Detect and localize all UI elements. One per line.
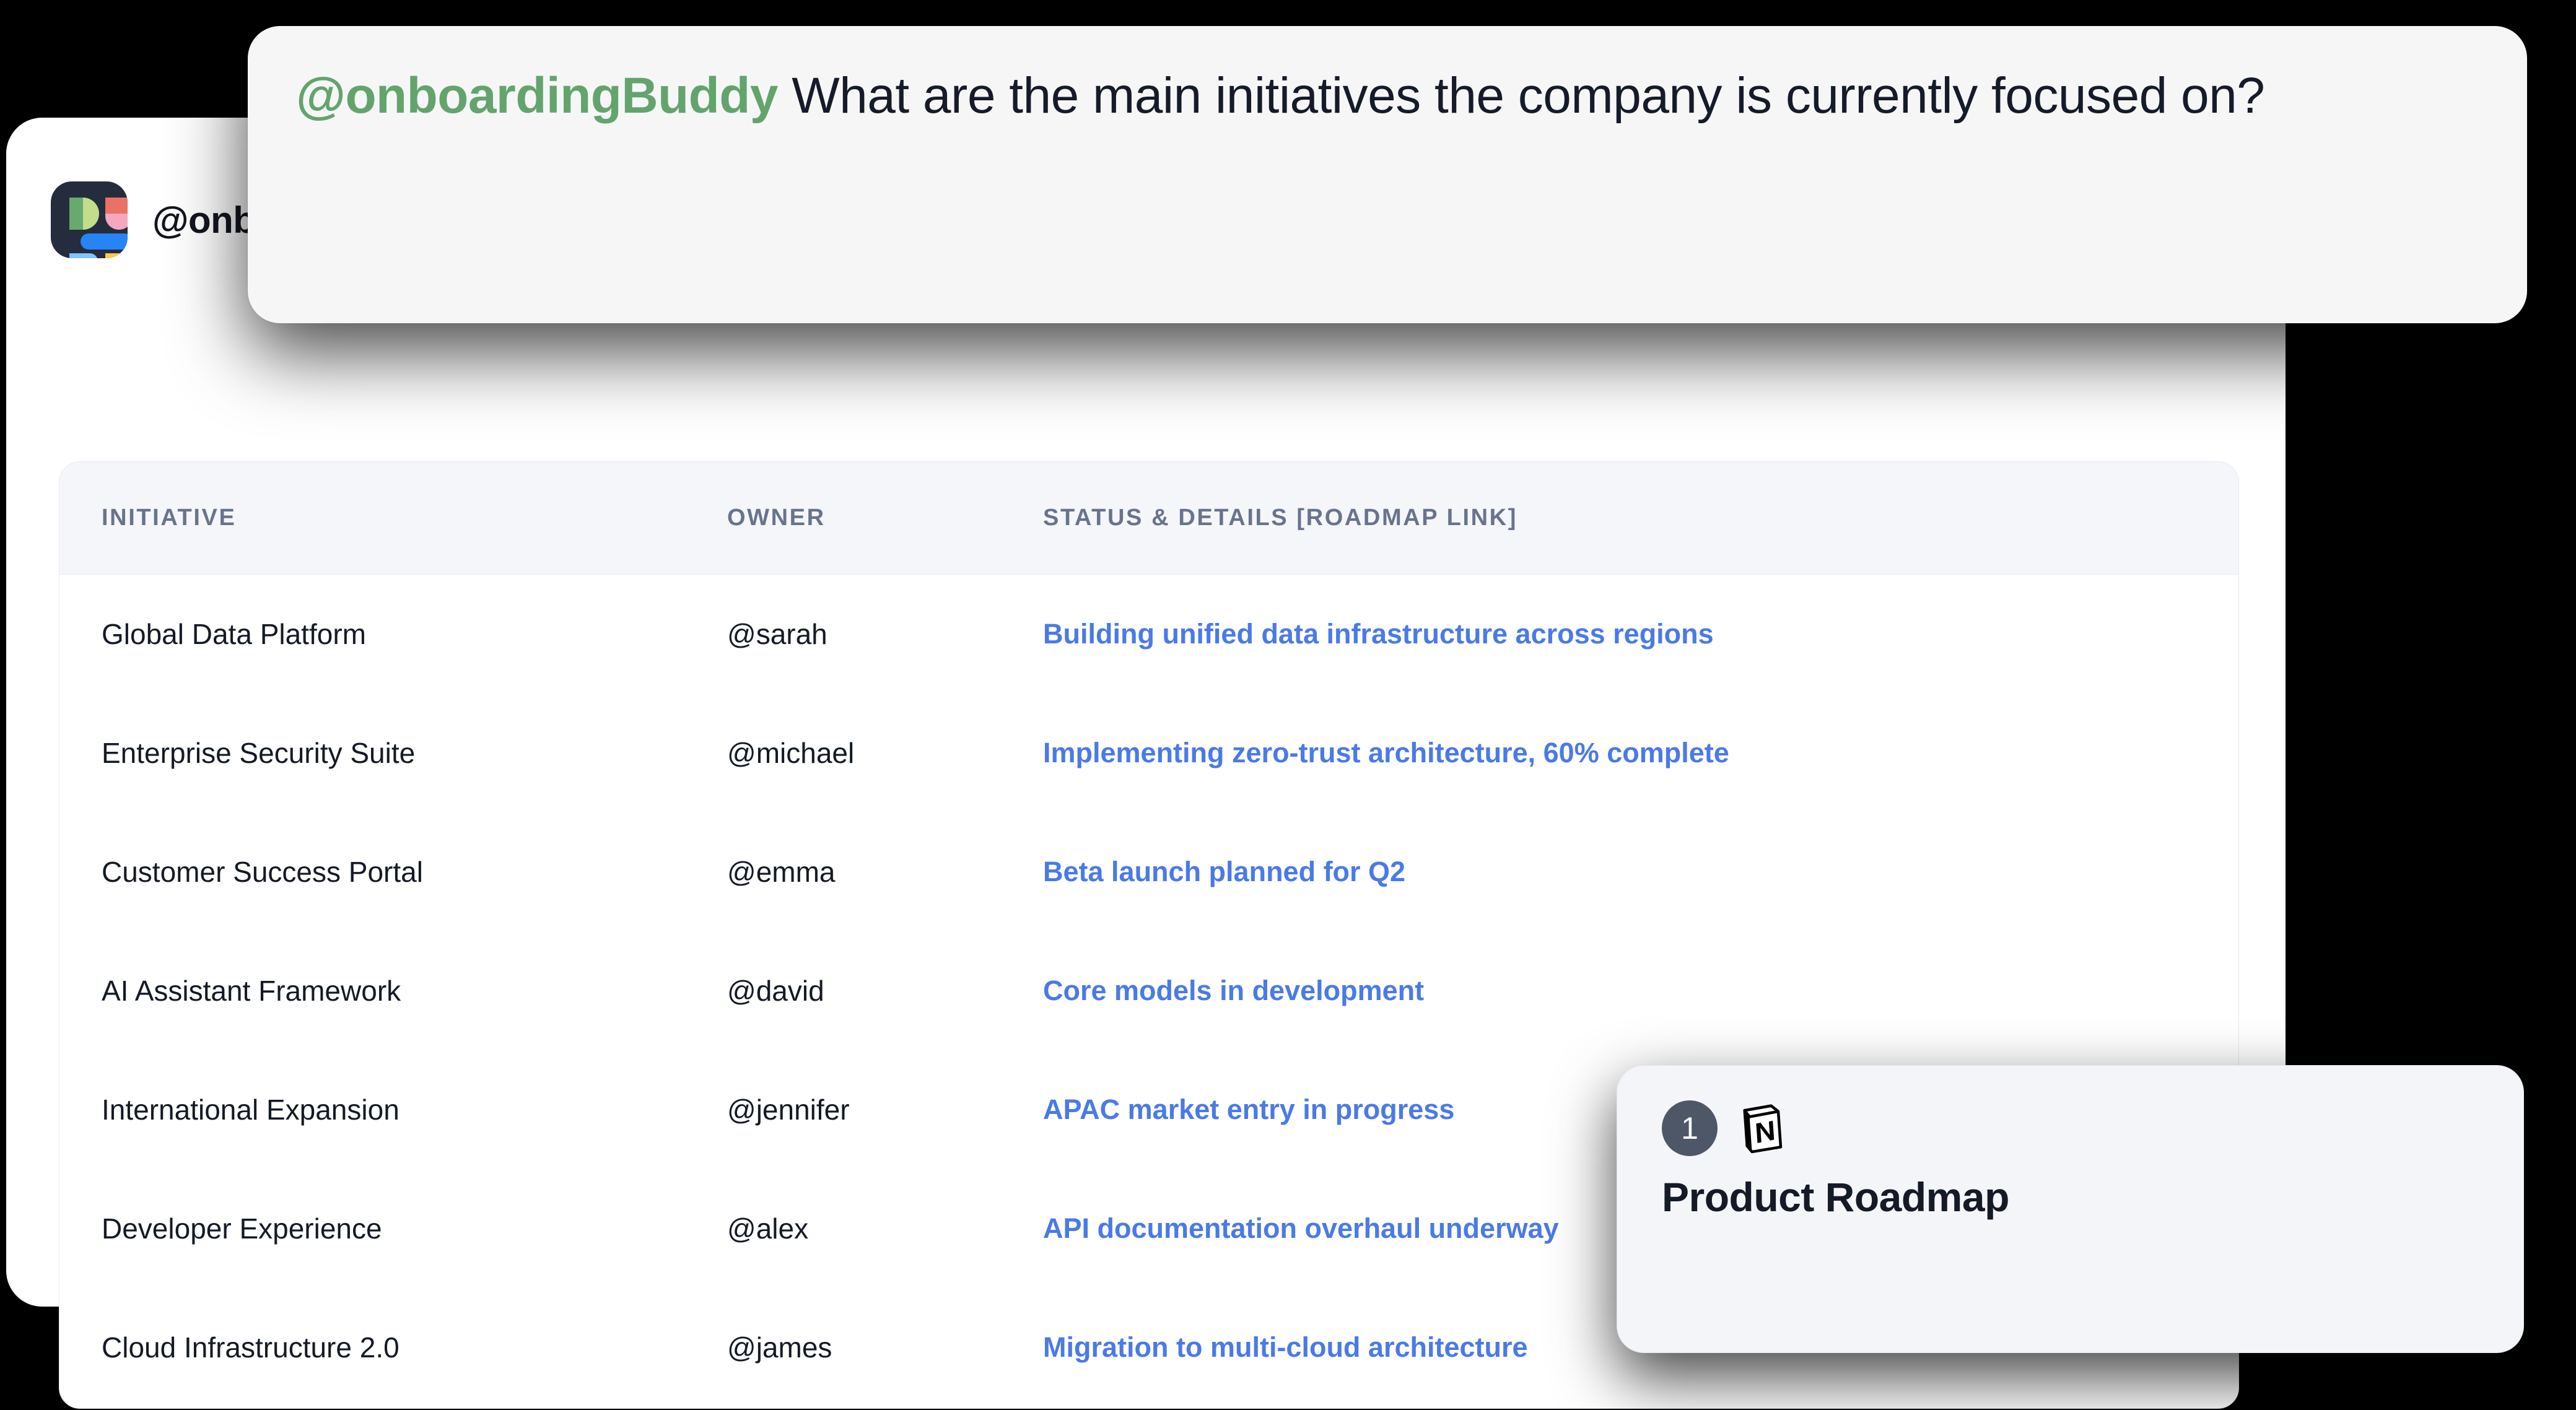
cell-status-link[interactable]: Beta launch planned for Q2 — [1043, 856, 2238, 888]
cell-owner: @michael — [727, 736, 1043, 770]
source-card-product-roadmap[interactable]: 1 Product Roadmap — [1617, 1065, 2524, 1353]
screenshot-canvas: @onboardingBuddy INITIATIVE OWNER STATUS… — [0, 0, 2576, 1410]
column-header-owner: OWNER — [727, 505, 1043, 531]
column-header-status: STATUS & DETAILS [ROADMAP LINK] — [1043, 505, 2238, 531]
query-body: What are the main initiatives the compan… — [778, 67, 2264, 124]
cell-status-link[interactable]: Core models in development — [1043, 975, 2238, 1007]
table-row[interactable]: Global Data Platform @sarah Building uni… — [102, 575, 2238, 694]
cell-owner: @emma — [727, 855, 1043, 889]
icon-shape-red-rect — [105, 198, 128, 214]
source-card-header: 1 — [1662, 1100, 2479, 1156]
icon-shape-blue-bar — [81, 233, 128, 250]
user-query-card: @onboardingBuddy What are the main initi… — [248, 26, 2527, 323]
cell-owner: @alex — [727, 1212, 1043, 1245]
icon-shape-green-block — [69, 198, 83, 230]
source-index-badge: 1 — [1662, 1100, 1718, 1156]
cell-initiative: AI Assistant Framework — [102, 974, 727, 1007]
table-row[interactable]: Customer Success Portal @emma Beta launc… — [102, 812, 2238, 931]
user-query-text: @onboardingBuddy What are the main initi… — [296, 62, 2479, 131]
cell-initiative: Developer Experience — [102, 1212, 727, 1245]
source-title: Product Roadmap — [1662, 1173, 2479, 1221]
icon-shape-pink-semicircle — [105, 214, 128, 230]
notion-icon — [1734, 1100, 1789, 1156]
mention-onboarding-buddy[interactable]: @onboardingBuddy — [296, 67, 778, 124]
cell-initiative: Cloud Infrastructure 2.0 — [102, 1331, 727, 1364]
cell-owner: @jennifer — [727, 1093, 1043, 1126]
cell-status-link[interactable]: Implementing zero-trust architecture, 60… — [1043, 737, 2238, 769]
icon-shape-lime-semicircle — [83, 198, 99, 230]
onboarding-buddy-app-icon — [51, 181, 128, 258]
cell-initiative: Global Data Platform — [102, 617, 727, 651]
cell-initiative: Customer Success Portal — [102, 855, 727, 889]
cell-owner: @sarah — [727, 617, 1043, 651]
table-row[interactable]: Enterprise Security Suite @michael Imple… — [102, 694, 2238, 812]
icon-shape-lightblue-pill — [69, 253, 98, 258]
table-header-row: INITIATIVE OWNER STATUS & DETAILS [ROADM… — [59, 462, 2238, 575]
cell-owner: @james — [727, 1331, 1043, 1364]
cell-status-link[interactable]: Building unified data infrastructure acr… — [1043, 618, 2238, 650]
cell-initiative: Enterprise Security Suite — [102, 736, 727, 770]
column-header-initiative: INITIATIVE — [102, 505, 727, 531]
table-row[interactable]: AI Assistant Framework @david Core model… — [102, 931, 2238, 1050]
cell-initiative: International Expansion — [102, 1093, 727, 1126]
cell-owner: @david — [727, 974, 1043, 1007]
icon-shape-yellow-square — [105, 253, 124, 258]
